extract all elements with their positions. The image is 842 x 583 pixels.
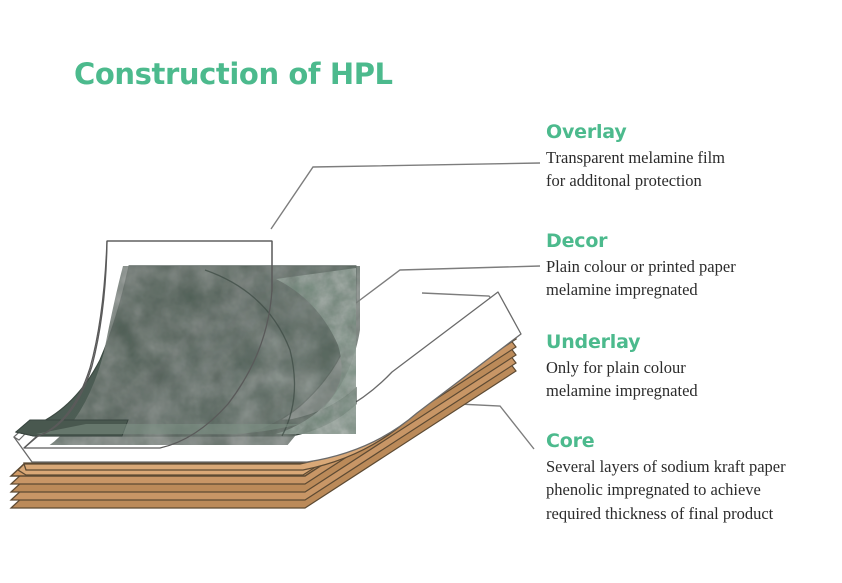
callout-heading-core: Core	[546, 432, 831, 452]
callout-overlay-line-2: for additonal protection	[546, 169, 831, 192]
leader-line-overlay	[271, 163, 540, 229]
callout-decor: Decor Plain colour or printed paper mela…	[546, 232, 831, 302]
callout-overlay: Overlay Transparent melamine film for ad…	[546, 123, 831, 193]
callout-decor-line-1: Plain colour or printed paper	[546, 255, 831, 278]
callout-body-core: Several layers of sodium kraft paper phe…	[546, 455, 831, 525]
callout-decor-line-2: melamine impregnated	[546, 278, 831, 301]
callout-overlay-line-1: Transparent melamine film	[546, 146, 831, 169]
callout-body-decor: Plain colour or printed paper melamine i…	[546, 255, 831, 302]
leader-line-decor	[356, 266, 540, 303]
callout-core-line-3: required thickness of final product	[546, 502, 831, 525]
callout-underlay-line-1: Only for plain colour	[546, 356, 831, 379]
callout-heading-underlay: Underlay	[546, 333, 831, 353]
callout-core-line-2: phenolic impregnated to achieve	[546, 478, 831, 501]
callout-underlay: Underlay Only for plain colour melamine …	[546, 333, 831, 403]
callout-heading-overlay: Overlay	[546, 123, 831, 143]
diagram-canvas: Construction of HPL	[0, 0, 842, 583]
callout-core-line-1: Several layers of sodium kraft paper	[546, 455, 831, 478]
callout-body-underlay: Only for plain colour melamine impregnat…	[546, 356, 831, 403]
callout-core: Core Several layers of sodium kraft pape…	[546, 432, 831, 525]
callout-heading-decor: Decor	[546, 232, 831, 252]
callout-underlay-line-2: melamine impregnated	[546, 379, 831, 402]
callout-body-overlay: Transparent melamine film for additonal …	[546, 146, 831, 193]
